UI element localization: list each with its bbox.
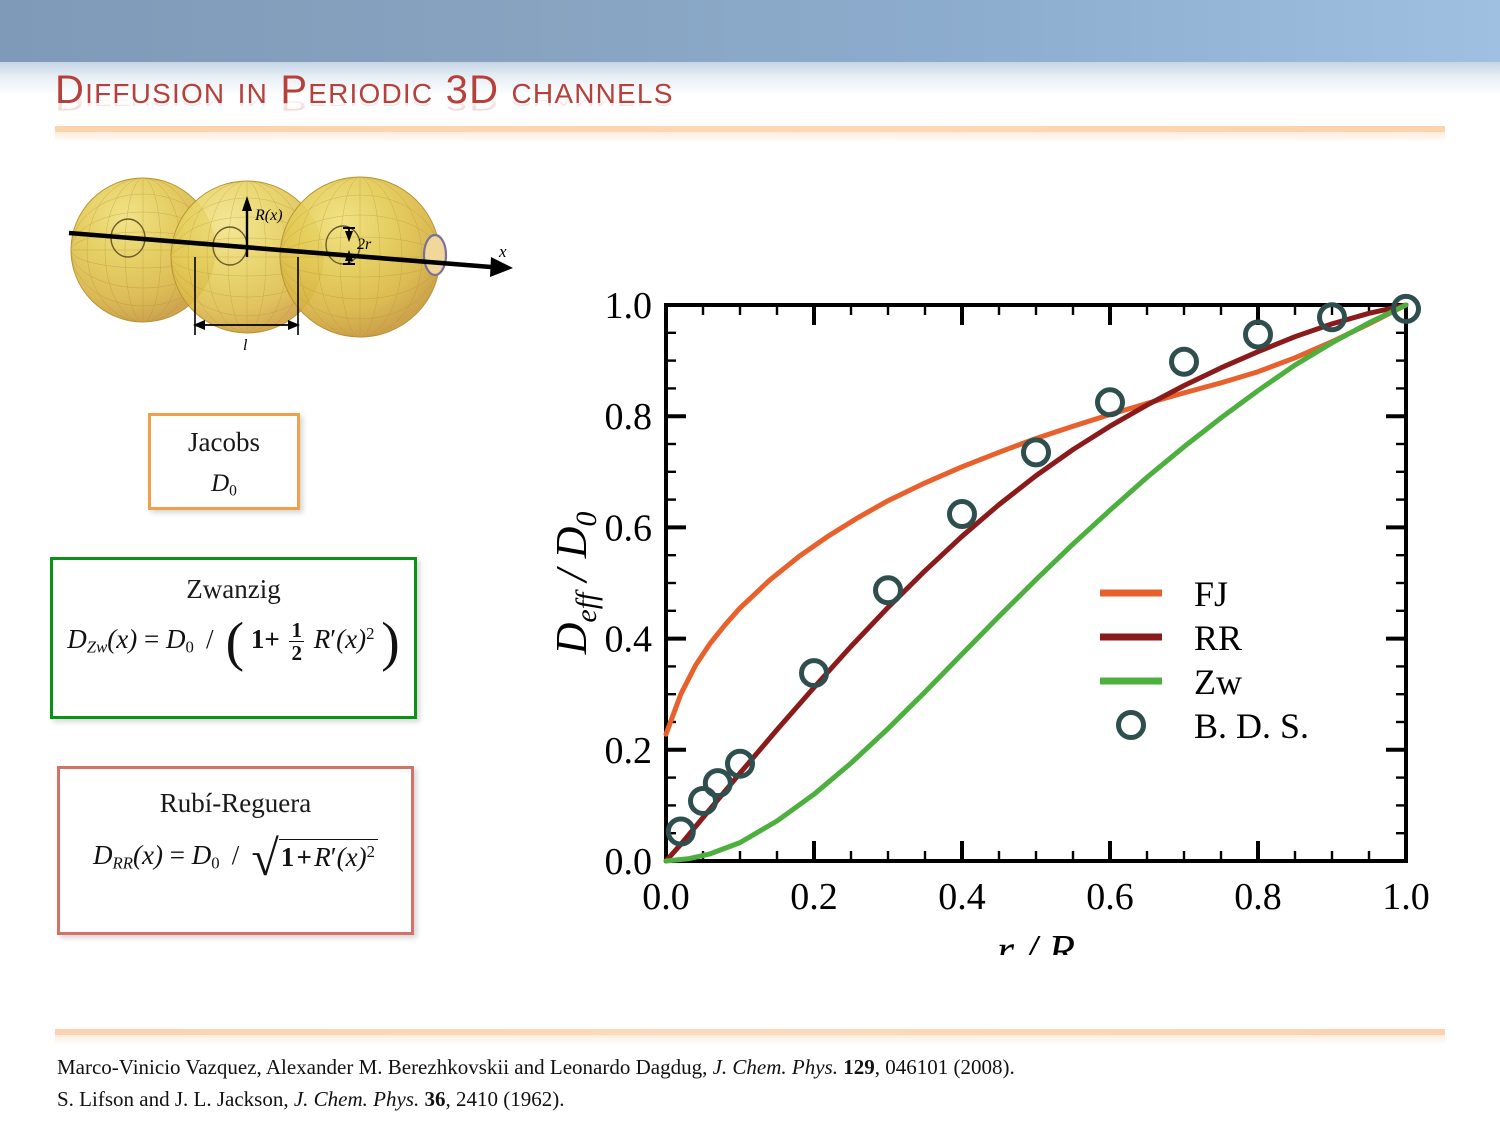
data-point <box>705 771 730 796</box>
x-axis-title: r / R <box>997 926 1075 955</box>
citation-1-rest: , 046101 (2008). <box>875 1055 1015 1079</box>
y-tick-label: 0.6 <box>605 507 653 549</box>
series-line-zw <box>666 305 1406 861</box>
citation-1-journal: J. Chem. Phys. <box>713 1055 844 1079</box>
radius-label: R(x) <box>254 207 283 224</box>
y-tick-label: 0.2 <box>605 730 653 772</box>
data-point <box>1246 322 1271 347</box>
legend-label: B. D. S. <box>1194 706 1309 746</box>
citation-1-volume: 129 <box>843 1055 875 1079</box>
citation-2-journal: J. Chem. Phys. <box>294 1087 425 1111</box>
formula-box-rubi-reguera: Rubí-Reguera DRR(x) = D0 / √1 + R′(x)2 <box>57 766 414 935</box>
y-axis-title-text: Deff / D0 <box>547 512 603 656</box>
citations-block: Marco-Vinicio Vazquez, Alexander M. Bere… <box>57 1052 1437 1116</box>
formula-equation-jacobs: D0 <box>151 470 297 500</box>
formula-box-jacobs: Jacobs D0 <box>148 413 300 510</box>
period-label: l <box>243 337 248 354</box>
diffusion-chart: 0.00.20.40.60.81.00.00.20.40.60.81.0FJRR… <box>540 265 1470 955</box>
aperture-label: 2r <box>357 236 372 253</box>
data-point <box>876 578 901 603</box>
y-axis-title-sub-zero: 0 <box>570 512 603 527</box>
legend-label: Zw <box>1194 662 1242 702</box>
page-title: Diffusion in Periodic 3D channels <box>55 68 674 113</box>
data-point <box>1098 390 1123 415</box>
citation-2-rest: , 2410 (1962). <box>445 1087 564 1111</box>
footer-divider-glow <box>55 1035 1445 1045</box>
formula-title-rubi-reguera: Rubí-Reguera <box>60 788 411 819</box>
x-tick-label: 0.6 <box>1086 876 1134 918</box>
header-band <box>0 0 1500 62</box>
formula-title-jacobs: Jacobs <box>151 427 297 458</box>
data-point <box>1024 440 1049 465</box>
y-tick-label: 0.8 <box>605 396 653 438</box>
y-tick-label: 0.4 <box>605 619 653 661</box>
data-point <box>802 661 827 686</box>
data-point <box>950 502 975 527</box>
channel-geometry-diagram: R(x) 2r l x <box>55 145 525 370</box>
y-axis-title-slash: / D <box>547 526 596 592</box>
axis-label-x: x <box>498 242 507 261</box>
citation-2: S. Lifson and J. L. Jackson, J. Chem. Ph… <box>57 1084 1437 1116</box>
citation-1: Marco-Vinicio Vazquez, Alexander M. Bere… <box>57 1052 1437 1084</box>
y-tick-label: 1.0 <box>605 285 653 327</box>
y-axis-title: Deff / D0 <box>547 512 603 656</box>
y-tick-label: 0.0 <box>605 841 653 883</box>
citation-1-authors: Marco-Vinicio Vazquez, Alexander M. Bere… <box>57 1055 713 1079</box>
legend-label: RR <box>1194 618 1242 658</box>
legend-swatch-bds <box>1119 713 1144 738</box>
formula-equation-zwanzig: DZw(x) = D0 / ( 1+ 12 R′(x)2 ) <box>53 619 414 665</box>
data-point <box>1172 349 1197 374</box>
citation-2-authors: S. Lifson and J. L. Jackson, <box>57 1087 294 1111</box>
legend-label: FJ <box>1194 574 1228 614</box>
formula-equation-rubi-reguera: DRR(x) = D0 / √1 + R′(x)2 <box>60 839 411 876</box>
x-tick-label: 0.8 <box>1234 876 1282 918</box>
header-divider-glow <box>55 132 1445 142</box>
series-line-fj <box>666 305 1406 734</box>
formula-title-zwanzig: Zwanzig <box>53 574 414 605</box>
formula-box-zwanzig: Zwanzig DZw(x) = D0 / ( 1+ 12 R′(x)2 ) <box>50 557 417 719</box>
x-tick-label: 0.2 <box>790 876 838 918</box>
citation-2-volume: 36 <box>424 1087 445 1111</box>
x-tick-label: 0.4 <box>938 876 986 918</box>
x-tick-label: 1.0 <box>1382 876 1430 918</box>
y-axis-title-sub-eff: eff <box>570 589 603 623</box>
